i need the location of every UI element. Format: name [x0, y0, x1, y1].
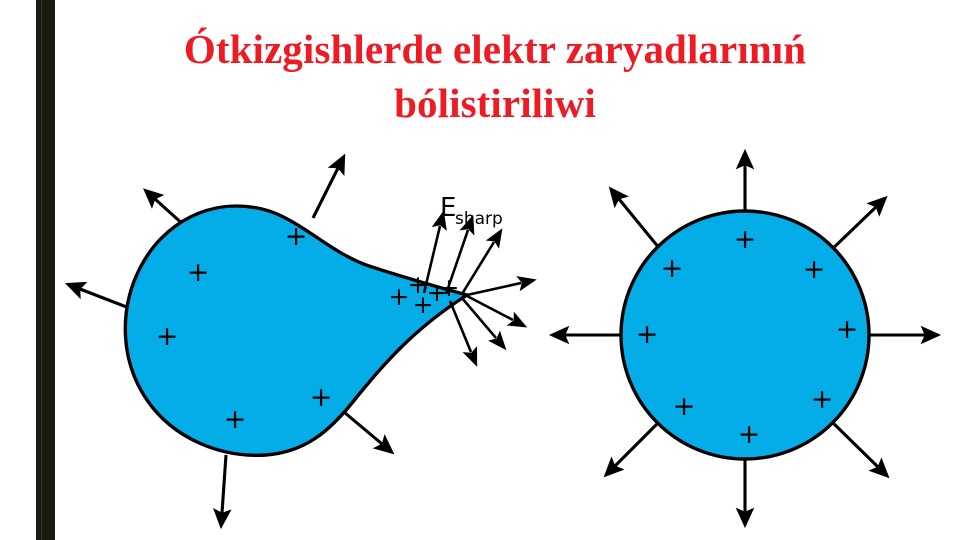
charge-plus: +: [389, 282, 410, 311]
arrow-northeast: [826, 207, 876, 255]
charge-plus: +: [803, 254, 826, 285]
right-charges: + + + + + + + +: [636, 224, 859, 450]
arrow-tip-fan-4: [467, 283, 521, 295]
charge-plus: +: [636, 319, 659, 350]
charge-plus: +: [224, 404, 247, 435]
charge-plus: +: [310, 382, 333, 413]
arrow-northwest: [619, 199, 664, 254]
charge-plus: +: [413, 290, 434, 319]
charge-plus: +: [673, 391, 696, 422]
left-accent-bar: [36, 0, 55, 540]
slide-canvas: Ótkizgishlerde elektr zaryadlarınıń bóli…: [0, 0, 961, 540]
charge-plus: +: [408, 270, 429, 299]
charge-plus: +: [427, 278, 448, 307]
charge-plus: +: [661, 253, 684, 284]
arrow-tip-fan-1: [424, 226, 440, 293]
arrow-top: [313, 168, 338, 218]
left-tip-arrow-fan: [424, 226, 521, 352]
field-label-subscript: sharp: [455, 209, 503, 229]
left-conductor-body: [125, 206, 467, 455]
arrow-tip-fan-2: [446, 230, 468, 294]
right-field-arrows: [565, 165, 925, 512]
right-conductor-body: [621, 211, 869, 459]
charge-plus: +: [187, 257, 210, 288]
title-line-2: bólistiriliwi: [70, 76, 920, 130]
right-conductor-group: + + + + + + + +: [565, 165, 925, 512]
title-line-1: Ótkizgishlerde elektr zaryadlarınıń: [70, 22, 920, 76]
charge-plus: +: [734, 224, 757, 255]
slide-title: Ótkizgishlerde elektr zaryadlarınıń bóli…: [70, 22, 920, 130]
arrow-bottom-right: [338, 407, 382, 444]
arrow-tip-fan-7: [450, 301, 471, 352]
arrow-upper-left-b: [80, 289, 142, 313]
arrow-bottom-left: [222, 455, 226, 513]
arrow-southeast: [828, 418, 878, 467]
left-accent-bar-highlight: [41, 0, 42, 540]
left-field-arrows: [80, 168, 382, 513]
left-conductor-group: + + + + + + + + + +: [80, 168, 521, 513]
charge-plus: +: [738, 419, 761, 450]
charge-plus: +: [811, 384, 834, 415]
field-label-e-sharp: E sharp: [440, 193, 503, 229]
arrow-tip-fan-6: [462, 298, 496, 338]
field-label-base: E: [440, 193, 456, 223]
charge-plus: +: [156, 321, 179, 352]
left-charges-scattered: + + + + +: [156, 221, 333, 435]
arrow-tip-fan-5: [467, 296, 513, 320]
charge-plus: +: [836, 314, 859, 345]
arrow-southwest: [615, 417, 664, 466]
arrow-tip-fan-3: [462, 242, 494, 294]
left-charges-tip-cluster: + + + + +: [389, 270, 460, 319]
charge-plus: +: [439, 273, 460, 302]
arrow-upper-left-a: [155, 199, 206, 245]
charge-plus: +: [285, 221, 308, 252]
